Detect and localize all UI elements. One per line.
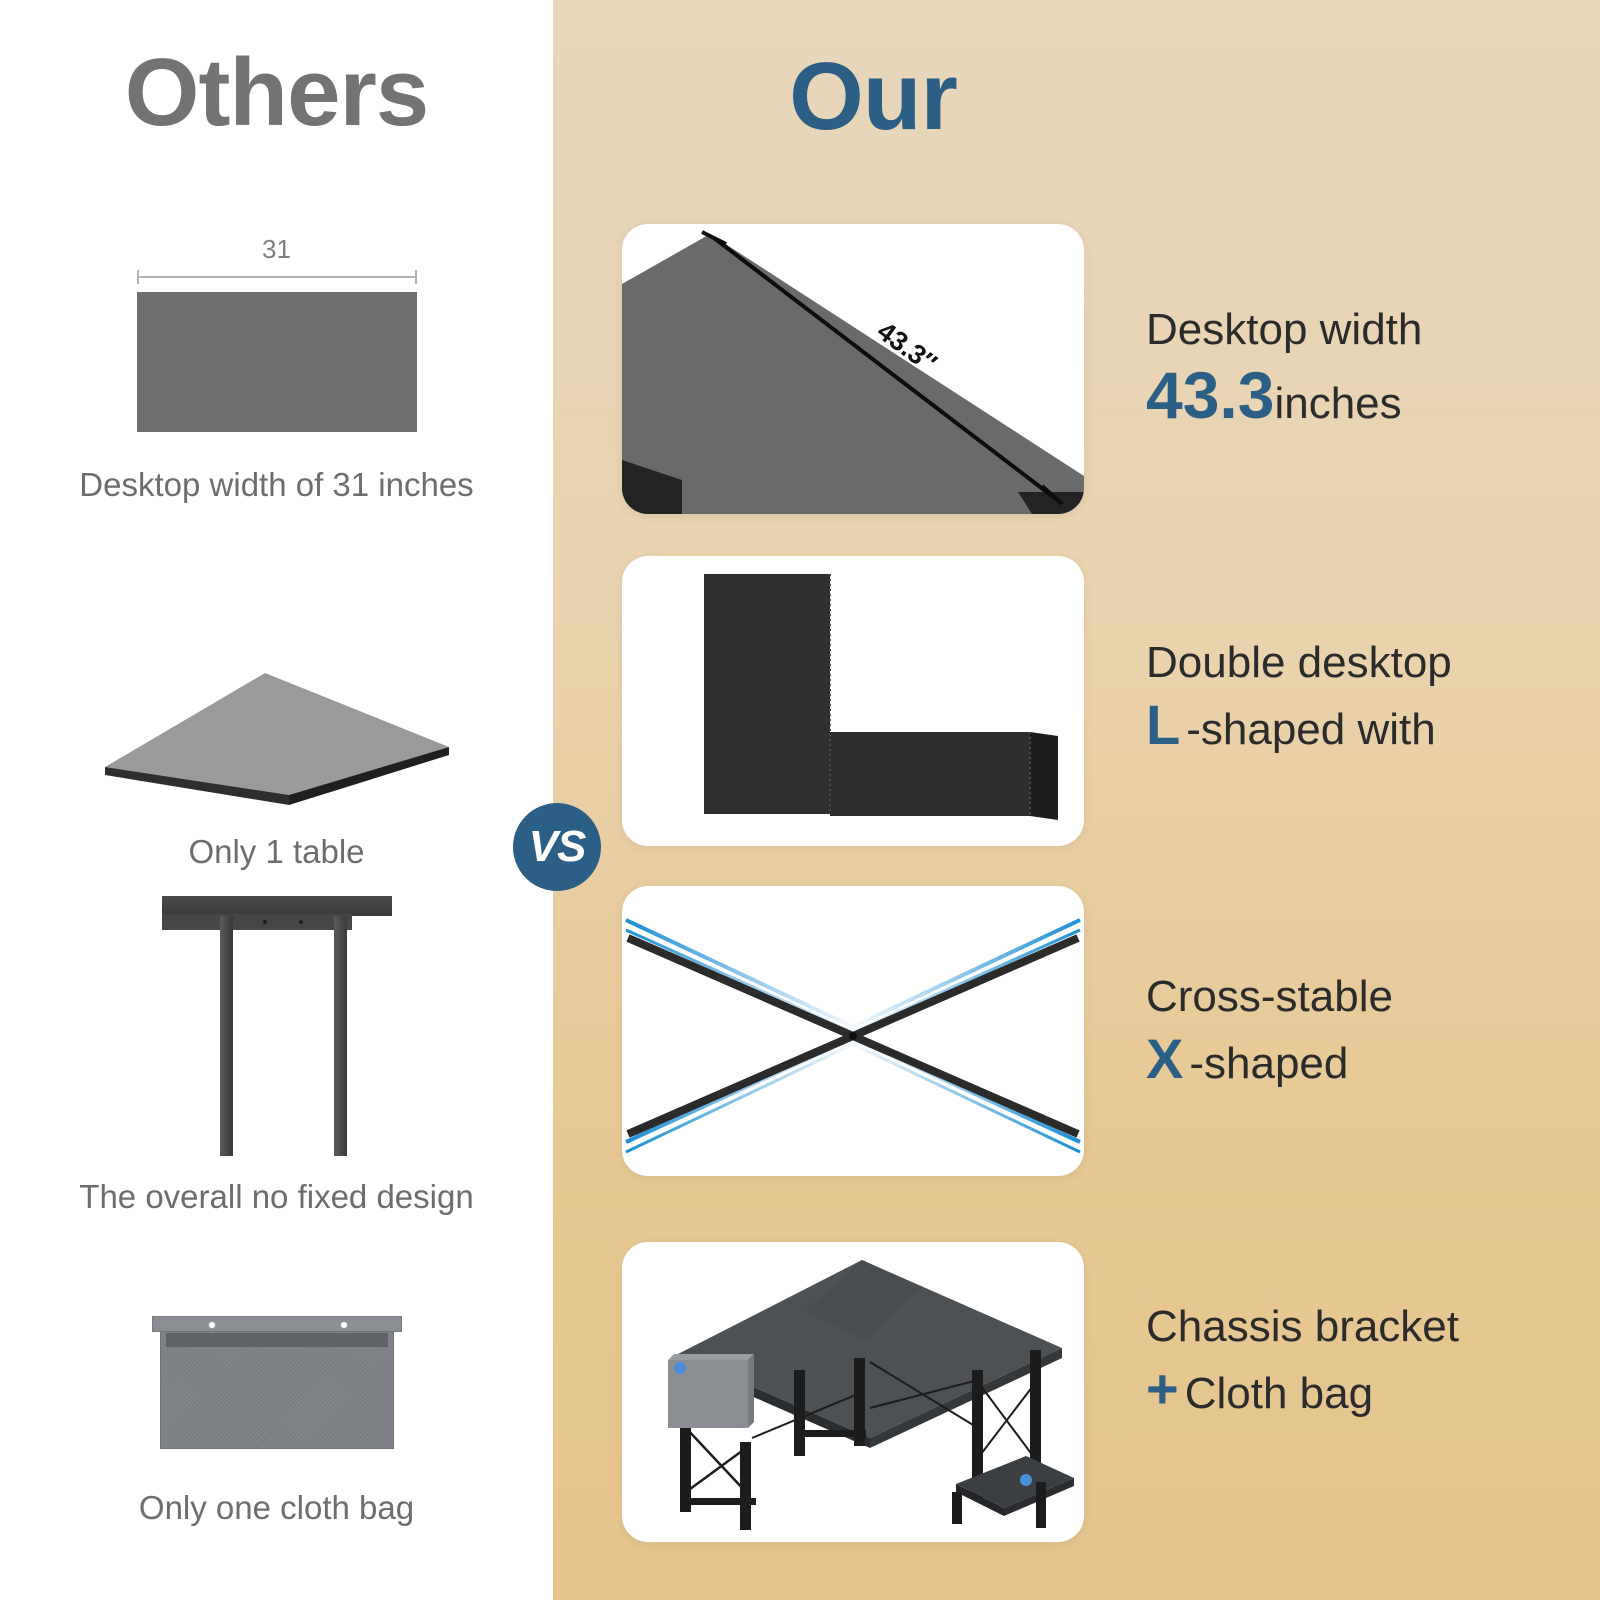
card-full-desk: [622, 1242, 1084, 1542]
others-caption-3: The overall no fixed design: [0, 1178, 553, 1216]
feature-4-line1: Chassis bracket: [1146, 1302, 1459, 1353]
feature-text-l-shaped: Double desktop L -shaped with: [1146, 638, 1452, 755]
single-tabletop-icon: [97, 655, 457, 805]
feature-3-line2: X -shaped: [1146, 1031, 1393, 1090]
feature-4-suffix: Cloth bag: [1185, 1369, 1373, 1420]
feature-1-value: 43.3: [1146, 362, 1274, 428]
feature-text-chassis-bracket: Chassis bracket + Cloth bag: [1146, 1302, 1459, 1419]
feature-text-x-shaped: Cross-stable X -shaped: [1146, 972, 1393, 1089]
feature-4-line2: + Cloth bag: [1146, 1361, 1459, 1420]
card-x-brace: [622, 886, 1084, 1176]
unbraced-legs-icon: [162, 896, 392, 1156]
feature-4-glyph: +: [1146, 1361, 1179, 1417]
our-title: Our: [553, 42, 1193, 152]
dimension-line-icon: [137, 270, 417, 284]
others-item-cloth-bag: Only one cloth bag: [0, 1316, 553, 1527]
feature-1-line1: Desktop width: [1146, 305, 1422, 356]
feature-2-glyph: L: [1146, 697, 1180, 753]
rectangle-desktop-icon: [137, 292, 417, 432]
dimension-value: 31: [137, 236, 417, 262]
comparison-infographic: Others 31 Desktop width of 31 inches O: [0, 0, 1600, 1600]
feature-1-line2: 43.3 inches: [1146, 362, 1422, 430]
vs-badge: VS: [513, 803, 601, 891]
cloth-bag-icon: [152, 1316, 402, 1451]
others-title: Others: [0, 38, 553, 148]
card-l-shaped-desktop: [622, 556, 1084, 846]
feature-text-desktop-width: Desktop width 43.3 inches: [1146, 305, 1422, 429]
feature-3-suffix: -shaped: [1189, 1039, 1348, 1090]
feature-3-line1: Cross-stable: [1146, 972, 1393, 1023]
others-caption-4: Only one cloth bag: [0, 1489, 553, 1527]
feature-1-unit: inches: [1274, 379, 1401, 430]
card-desktop-width: 43.3″: [622, 224, 1084, 514]
feature-2-line1: Double desktop: [1146, 638, 1452, 689]
feature-3-glyph: X: [1146, 1031, 1183, 1087]
others-caption-1: Desktop width of 31 inches: [0, 466, 553, 504]
feature-2-line2: L -shaped with: [1146, 697, 1452, 756]
feature-2-suffix: -shaped with: [1186, 705, 1435, 756]
others-item-no-fixed-design: The overall no fixed design: [0, 896, 553, 1216]
dimension-annotation: 31: [137, 236, 417, 284]
others-caption-2: Only 1 table: [0, 833, 553, 871]
others-item-single-table: Only 1 table: [0, 655, 553, 871]
others-panel: Others 31 Desktop width of 31 inches O: [0, 0, 553, 1600]
others-item-desktop-width: 31 Desktop width of 31 inches: [0, 236, 553, 504]
